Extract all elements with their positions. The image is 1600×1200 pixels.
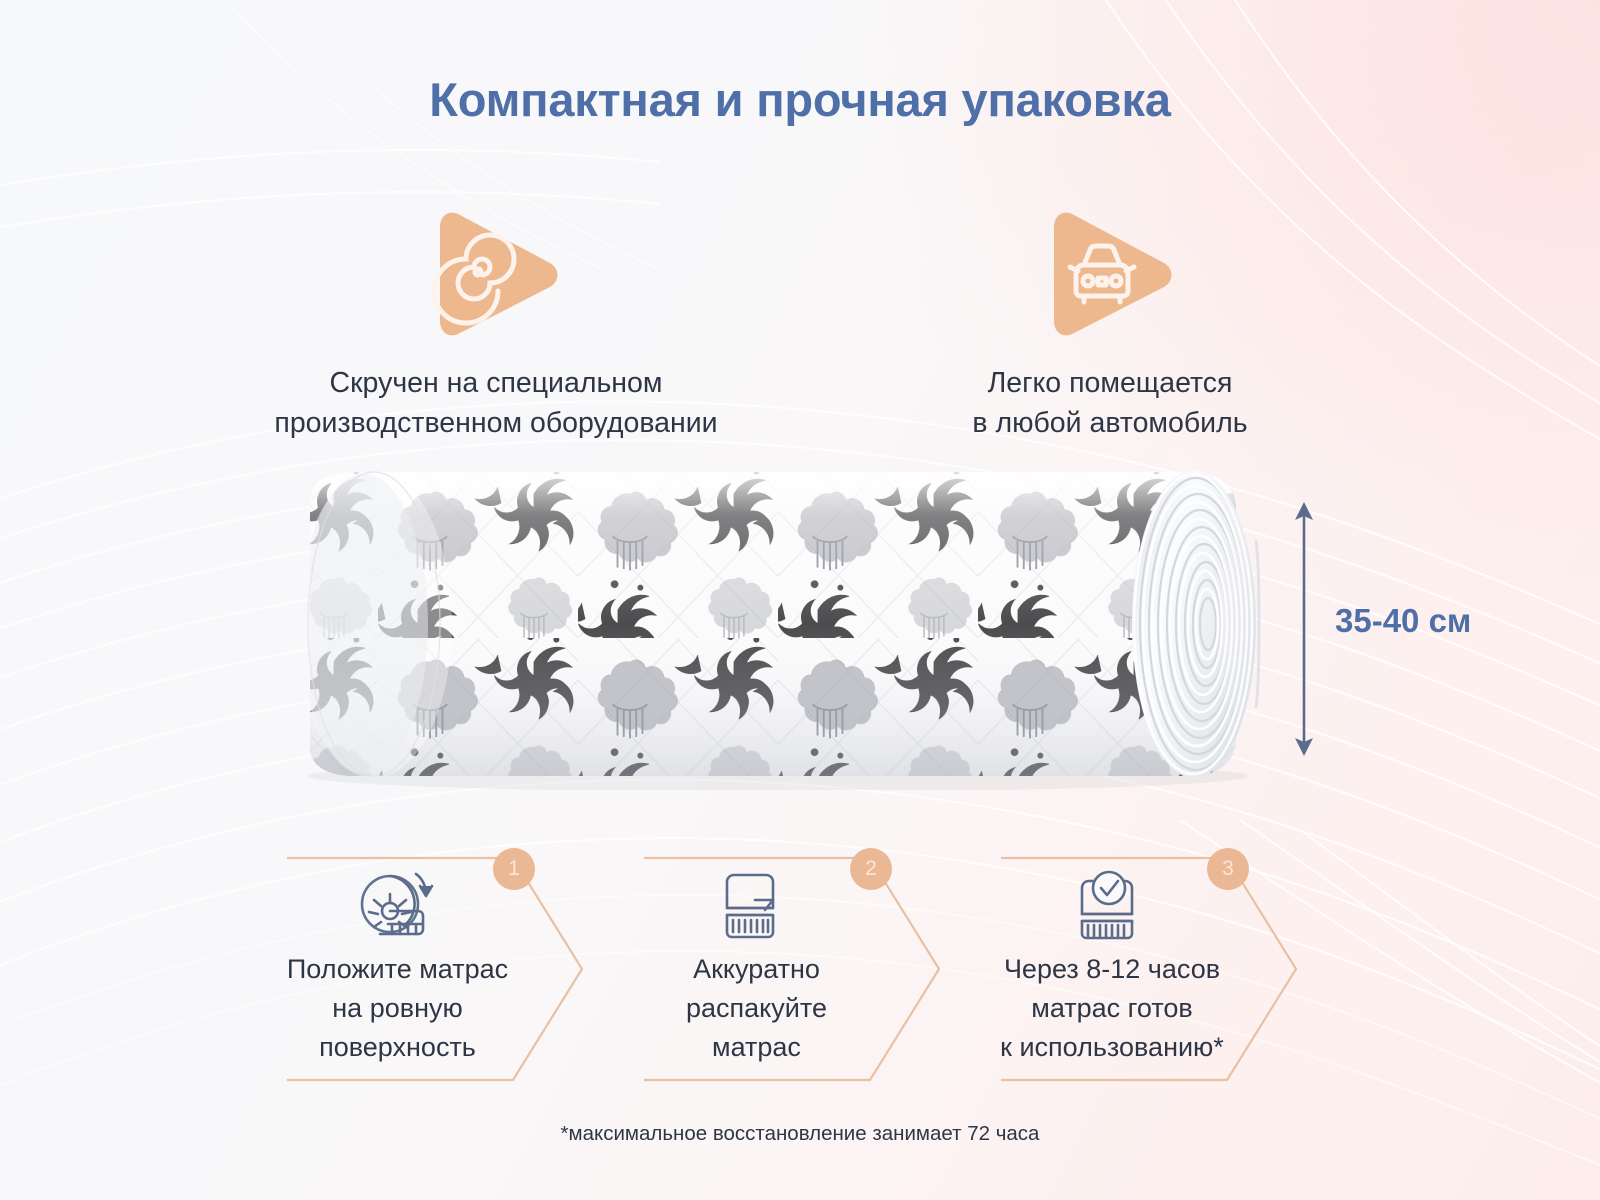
step-card-3[interactable]: 3 Через 8-12 часов матрас готов к исполь…	[999, 838, 1329, 1100]
steps-row: 1 Положите матрас на ро	[285, 838, 1345, 1100]
step-label: Через 8-12 часов матрас готов к использо…	[971, 950, 1253, 1067]
step-card-1[interactable]: 1 Положите матрас на ро	[285, 838, 615, 1100]
feature-caption: Скручен на специальном производственном …	[218, 363, 774, 444]
car-icon	[1040, 205, 1180, 337]
footnote: *максимальное восстановление занимает 72…	[0, 1122, 1600, 1146]
spiral-roll-icon	[426, 205, 566, 337]
step-card-2[interactable]: 2 Аккуратно распакуйте матрас	[642, 838, 972, 1100]
mattress-unpack-icon	[642, 866, 857, 951]
step-label: Положите матрас на ровную поверхность	[265, 950, 530, 1067]
page-title: Компактная и прочная упаковка	[0, 72, 1600, 127]
feature-caption: Легко помещается в любой автомобиль	[885, 363, 1335, 444]
mattress-ready-check-icon	[999, 866, 1214, 951]
rolled-mattress-image: DIMAX	[178, 470, 1288, 790]
dimension-annotation: 35-40 см	[1288, 498, 1548, 760]
step-label: Аккуратно распакуйте матрас	[624, 950, 889, 1067]
unroll-mattress-icon	[285, 866, 500, 951]
dimension-label: 35-40 см	[1335, 602, 1471, 640]
roll-end-spiral	[1132, 470, 1259, 778]
infographic-page: Компактная и прочная упаковка Скручен на…	[0, 0, 1600, 1200]
feature-fits-any-car: Легко помещается в любой автомобиль	[885, 205, 1335, 444]
feature-rolled-on-equipment: Скручен на специальном производственном …	[218, 205, 774, 444]
